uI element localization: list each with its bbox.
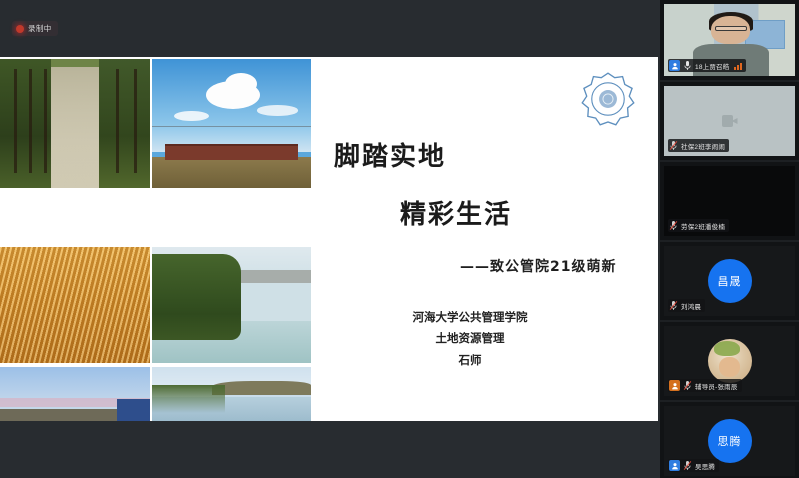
shared-screen-stage[interactable]: 脚踏实地 精彩生活 ——致公管院21级萌新 河海大学公共管理学院 土地资源管理 …: [0, 57, 658, 421]
participant-tile[interactable]: 社保2班李闹闹: [660, 82, 799, 162]
microphone-icon: [683, 60, 692, 71]
slide-affiliation: 河海大学公共管理学院 土地资源管理 石师: [316, 307, 624, 371]
microphone-muted-icon: [683, 460, 692, 471]
participant-tile[interactable]: 劳保2班潘俊楠: [660, 162, 799, 242]
participant-rail[interactable]: 18上贾召皓 社保: [660, 0, 799, 478]
affiliation-line-3: 石师: [316, 350, 624, 371]
photo-river-with-hills-and-boat: [152, 367, 311, 421]
slide-title-line1: 脚踏实地: [334, 136, 446, 173]
participant-name: 18上贾召皓: [695, 61, 729, 71]
hohai-university-emblem-icon: [580, 71, 636, 127]
photo-willow-lake-with-stone-bridge: [152, 247, 311, 363]
participant-label: 劳保2班潘俊楠: [668, 219, 729, 232]
camera-off-icon: [722, 115, 738, 127]
participant-name: 刘鸿晨: [681, 301, 701, 311]
slide-subtitle: ——致公管院21级萌新: [460, 256, 616, 276]
microphone-muted-icon: [669, 140, 678, 151]
participant-name: 劳保2班潘俊楠: [681, 221, 725, 231]
participant-label: 吴思腾: [668, 459, 719, 472]
participant-name: 吴思腾: [695, 461, 715, 471]
recording-dot-icon: [16, 25, 24, 33]
affiliation-line-1: 河海大学公共管理学院: [316, 307, 624, 328]
participant-name: 辅导员-张雨辰: [695, 381, 738, 391]
participant-label: 社保2班李闹闹: [668, 139, 729, 152]
recording-label: 录制中: [28, 23, 52, 34]
microphone-muted-icon: [683, 380, 692, 391]
participant-label: 18上贾召皓: [668, 59, 746, 72]
participant-tile[interactable]: 辅导员-张雨辰: [660, 322, 799, 402]
participant-tile[interactable]: 18上贾召皓: [660, 0, 799, 82]
participant-label: 辅导员-张雨辰: [668, 379, 742, 392]
participant-name: 社保2班李闹闹: [681, 141, 725, 151]
slide-title-line2: 精彩生活: [400, 194, 512, 231]
microphone-muted-icon: [669, 300, 678, 311]
photo-tree-lined-country-road: [0, 59, 150, 188]
affiliation-line-2: 土地资源管理: [316, 328, 624, 349]
participant-tile[interactable]: 昌晟 刘鸿晨: [660, 242, 799, 322]
participant-badge-icon: [669, 460, 680, 471]
photo-embankment-under-hazy-sky: [0, 367, 150, 421]
avatar: [708, 339, 752, 383]
photo-farm-buildings-under-blue-sky: [152, 59, 311, 188]
signal-strength-icon: [734, 62, 742, 70]
meeting-window: 录制中: [0, 0, 799, 478]
avatar: 思腾: [708, 419, 752, 463]
microphone-muted-icon: [669, 220, 678, 231]
avatar: 昌晟: [708, 259, 752, 303]
host-badge-icon: [669, 380, 680, 391]
participant-badge-icon: [669, 60, 680, 71]
recording-indicator: 录制中: [12, 21, 58, 36]
participant-tile[interactable]: 思腾 吴思腾: [660, 402, 799, 478]
photo-golden-wheat-field: [0, 247, 150, 363]
participant-label: 刘鸿晨: [668, 299, 705, 312]
photo-collage: [0, 57, 311, 421]
slide-text-panel: 脚踏实地 精彩生活 ——致公管院21级萌新 河海大学公共管理学院 土地资源管理 …: [316, 57, 658, 421]
